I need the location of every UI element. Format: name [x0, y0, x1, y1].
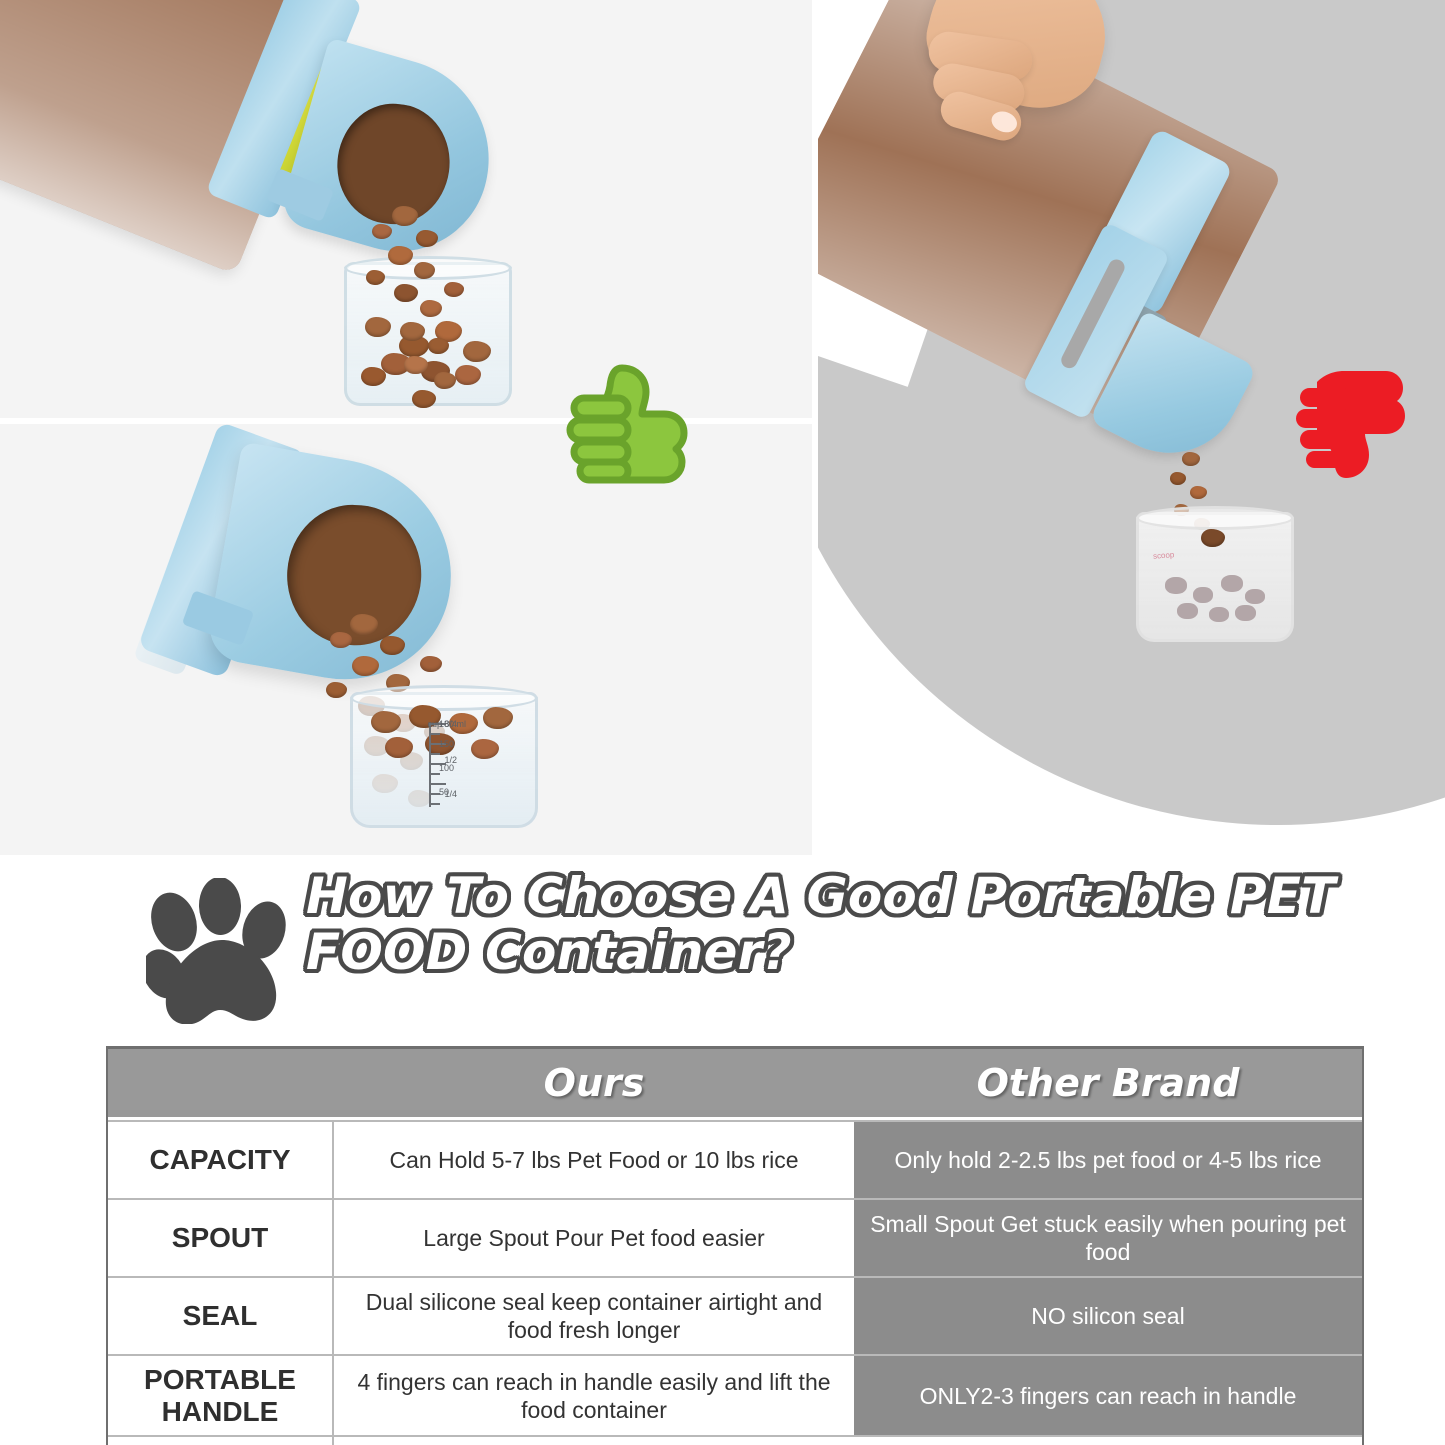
table-row: PORTABLE HANDLE 4 fingers can reach in h…: [108, 1354, 1362, 1435]
header-ours: Ours: [334, 1061, 854, 1105]
row-label: CAPACITY: [108, 1122, 334, 1198]
product-photo-area: cup 3/4 1/2 1/4 180 ml 150 100 50: [0, 0, 1445, 855]
row-ours-value: Large Spout Pour Pet food easier: [334, 1200, 854, 1276]
row-label: [108, 1437, 334, 1445]
comparison-table: Ours Other Brand CAPACITY Can Hold 5-7 l…: [106, 1046, 1364, 1445]
cup-label-150: 150: [439, 739, 454, 749]
table-row: SPOUT Large Spout Pour Pet food easier S…: [108, 1198, 1362, 1276]
row-ours-value: [334, 1437, 854, 1445]
row-ours-value: Dual silicone seal keep container airtig…: [334, 1278, 854, 1354]
thumbs-up-icon: [560, 358, 690, 486]
infographic-page: cup 3/4 1/2 1/4 180 ml 150 100 50: [0, 0, 1445, 1445]
paw-print-icon: [146, 878, 298, 1024]
photo-ours-pouring-bottom: cup 3/4 1/2 1/4 180 ml 150 100 50: [0, 424, 812, 855]
photo-other-brand: scoop: [818, 0, 1445, 855]
row-label: PORTABLE HANDLE: [108, 1356, 334, 1435]
table-row-partial: [108, 1435, 1362, 1445]
row-other-value: Small Spout Get stuck easily when pourin…: [854, 1200, 1362, 1276]
table-row: SEAL Dual silicone seal keep container a…: [108, 1276, 1362, 1354]
row-other-value: ONLY2-3 fingers can reach in handle: [854, 1356, 1362, 1435]
cup-label-100: 100: [439, 763, 454, 773]
table-row: CAPACITY Can Hold 5-7 lbs Pet Food or 10…: [108, 1120, 1362, 1198]
cup-label-50: 50: [439, 787, 449, 797]
cup-label-180ml: 180 ml: [439, 719, 466, 729]
measuring-cup: cup 3/4 1/2 1/4 180 ml 150 100 50: [350, 692, 538, 828]
photo-ours-pouring-top: [0, 0, 812, 418]
row-ours-value: Can Hold 5-7 lbs Pet Food or 10 lbs rice: [334, 1122, 854, 1198]
header-other-brand: Other Brand: [854, 1061, 1362, 1105]
thumbs-down-icon: [1286, 362, 1412, 488]
measuring-cup-scale: cup 3/4 1/2 1/4 180 ml 150 100 50: [375, 719, 521, 811]
row-label: SEAL: [108, 1278, 334, 1354]
row-other-value: NO silicon seal: [854, 1278, 1362, 1354]
row-label: SPOUT: [108, 1200, 334, 1276]
table-header-row: Ours Other Brand: [108, 1049, 1362, 1120]
heading-block: How To Choose A Good Portable PET FOOD C…: [0, 862, 1445, 1032]
row-other-value: Only hold 2-2.5 lbs pet food or 4-5 lbs …: [854, 1122, 1362, 1198]
page-title: How To Choose A Good Portable PET FOOD C…: [306, 868, 1386, 980]
row-ours-value: 4 fingers can reach in handle easily and…: [334, 1356, 854, 1435]
row-other-value: [854, 1437, 1362, 1445]
other-measuring-cup: scoop: [1136, 512, 1294, 642]
cup-scale-mark: scoop: [1153, 550, 1175, 560]
